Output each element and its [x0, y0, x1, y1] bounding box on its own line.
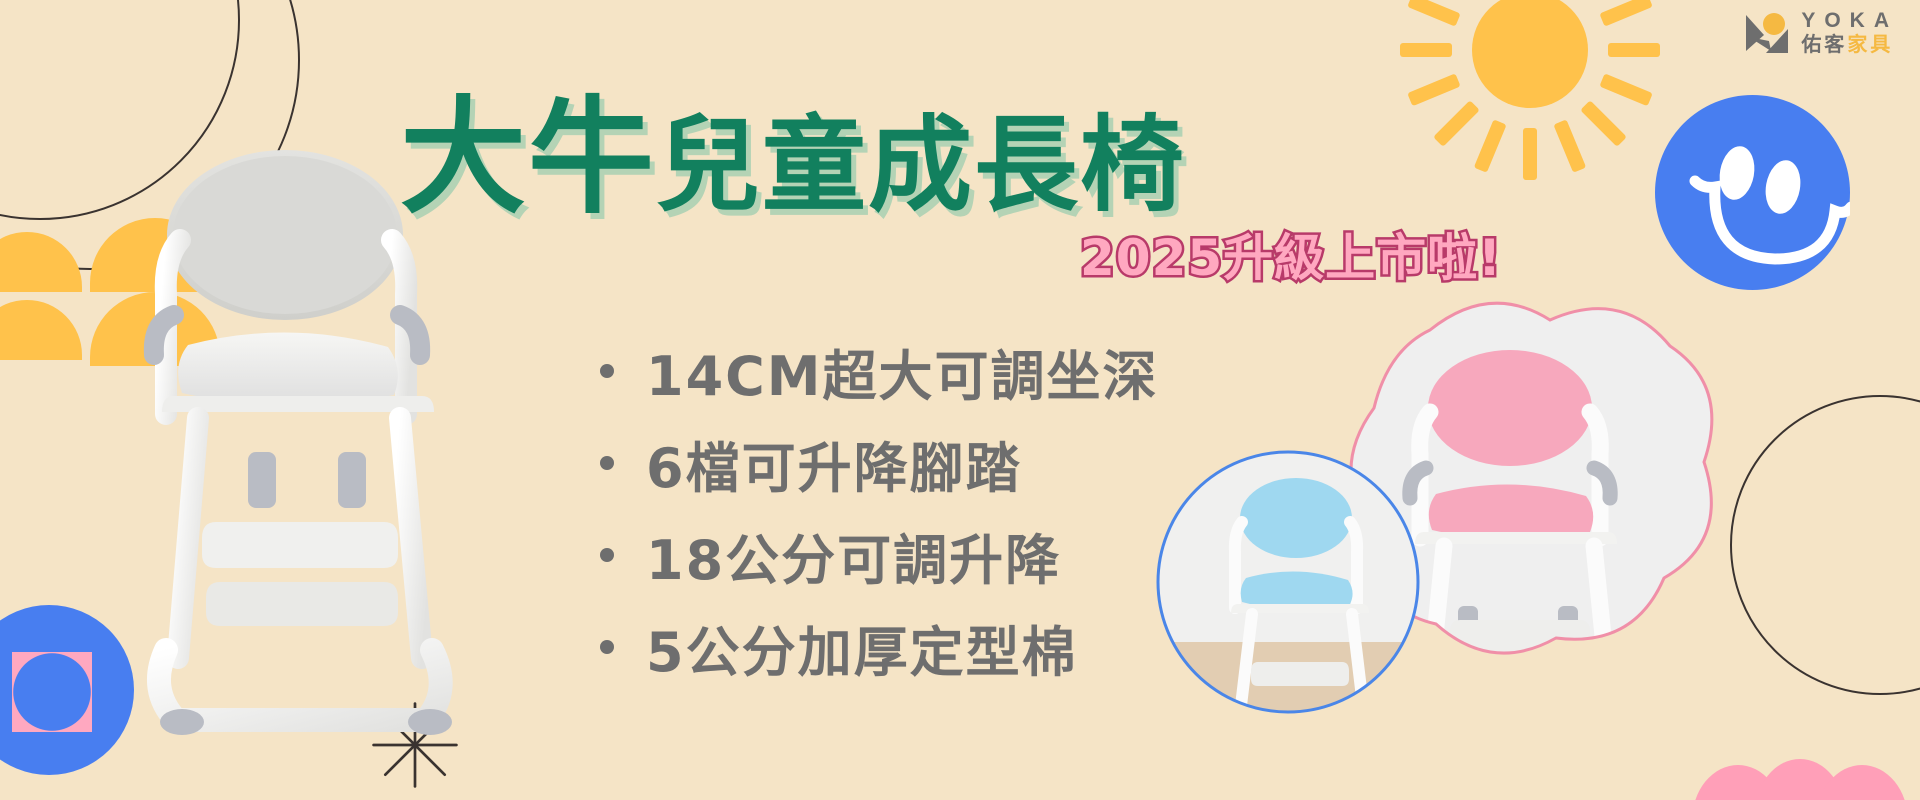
product-photo-color-variants: [1130, 290, 1750, 760]
list-item: 14CM超大可調坐深: [600, 325, 1159, 417]
feature-label: 6檔可升降腳踏: [646, 424, 1022, 503]
list-item: 5公分加厚定型棉: [600, 601, 1159, 693]
headline-brand: 大牛: [400, 84, 656, 231]
feature-label: 5公分加厚定型棉: [646, 608, 1078, 687]
promo-banner: 大牛兒童成長椅 2025升級上市啦! 14CM超大可調坐深 6檔可升降腳踏 18…: [0, 0, 1920, 800]
yoka-logo-mark-icon: [1743, 11, 1791, 55]
logo-text-block: YOKA 佑客家具: [1801, 10, 1898, 55]
list-item: 18公分可調升降: [600, 509, 1159, 601]
headline-product: 兒童成長椅: [656, 104, 1186, 226]
list-item: 6檔可升降腳踏: [600, 417, 1159, 509]
logo-chinese-name: 佑客家具: [1801, 35, 1898, 55]
logo-cn-gray: 佑客: [1801, 34, 1847, 56]
logo-cn-yellow: 家具: [1847, 34, 1893, 56]
decor-sun-icon: [1400, 0, 1660, 180]
logo-wordmark: YOKA: [1801, 10, 1898, 31]
decor-smiley-face-icon: [1655, 95, 1850, 290]
page-title: 大牛兒童成長椅: [400, 80, 1186, 231]
bullet-dot-icon: [600, 456, 614, 470]
decor-ring-right-icon: [1730, 395, 1920, 695]
bullet-dot-icon: [600, 548, 614, 562]
feature-label: 18公分可調升降: [646, 516, 1061, 595]
bullet-dot-icon: [600, 640, 614, 654]
subtitle-badge: 2025升級上市啦!: [1080, 218, 1502, 290]
bullet-dot-icon: [600, 364, 614, 378]
feature-list: 14CM超大可調坐深 6檔可升降腳踏 18公分可調升降 5公分加厚定型棉: [600, 325, 1159, 693]
feature-label: 14CM超大可調坐深: [646, 332, 1159, 411]
brand-logo[interactable]: YOKA 佑客家具: [1743, 10, 1898, 55]
